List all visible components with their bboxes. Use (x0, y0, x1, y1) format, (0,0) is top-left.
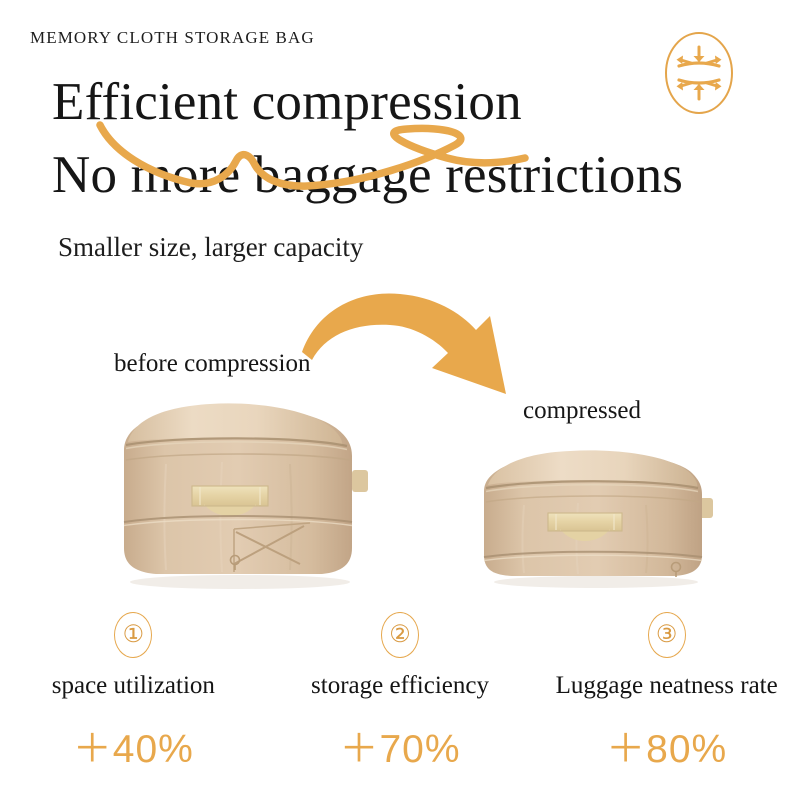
headline-line-2: No more baggage restrictions (52, 149, 752, 202)
stat-label: storage efficiency (311, 672, 489, 700)
stat-value: ＋80% (606, 718, 727, 774)
stats-row: ① space utilization ＋40% ② storage effic… (0, 612, 800, 774)
label-compressed: compressed (523, 397, 641, 425)
storage-bag-uncompressed (104, 398, 374, 590)
subheading: Smaller size, larger capacity (58, 232, 363, 263)
stat-item: ① space utilization ＋40% (0, 612, 267, 774)
stat-item: ② storage efficiency ＋70% (267, 612, 534, 774)
stat-value: ＋70% (339, 718, 460, 774)
stat-number-badge: ② (381, 612, 419, 658)
stat-item: ③ Luggage neatness rate ＋80% (533, 612, 800, 774)
stat-number-badge: ③ (648, 612, 686, 658)
page-title: MEMORY CLOTH STORAGE BAG (30, 28, 315, 48)
stat-value: ＋40% (73, 718, 194, 774)
stat-number: ② (389, 623, 411, 647)
stat-label: space utilization (52, 672, 215, 700)
curved-arrow-right-down-icon (294, 290, 534, 405)
stat-number-badge: ① (114, 612, 152, 658)
label-before-compression: before compression (114, 350, 310, 378)
stat-number: ③ (656, 623, 678, 647)
headline-block: Efficient compression No more baggage re… (52, 76, 752, 202)
infographic-page: MEMORY CLOTH STORAGE BAG (0, 0, 800, 800)
headline-line-1: Efficient compression (52, 76, 752, 129)
stat-label: Luggage neatness rate (556, 672, 778, 700)
storage-bag-compressed (470, 443, 720, 589)
stat-number: ① (123, 623, 145, 647)
